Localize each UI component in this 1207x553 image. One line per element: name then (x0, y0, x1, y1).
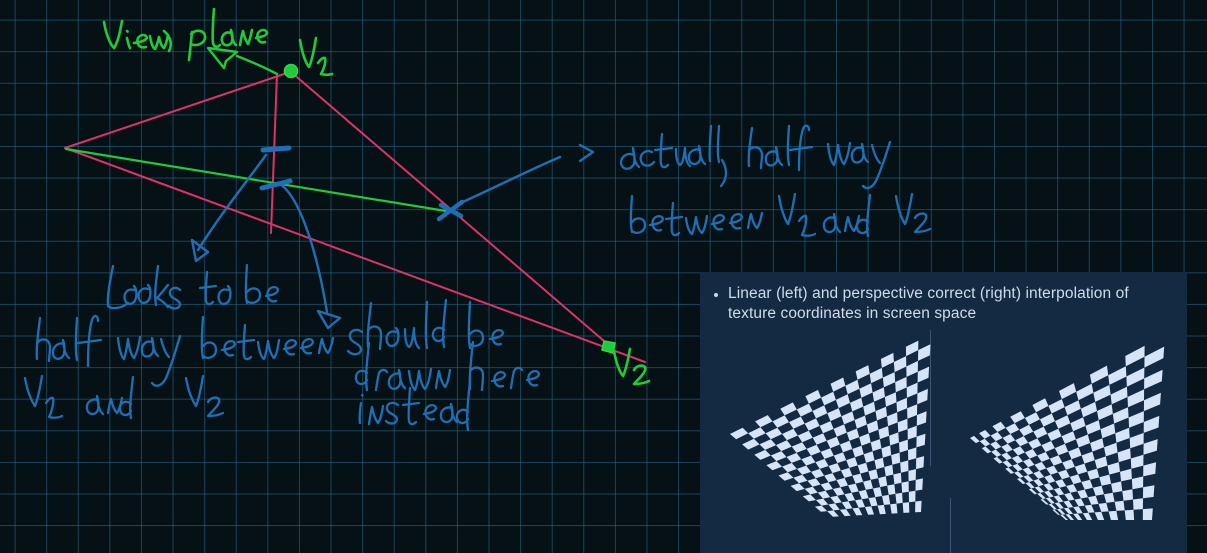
should-note-arrowhead (318, 311, 340, 328)
note-looks-line1 (108, 265, 278, 308)
looks-note-arrowhead (192, 240, 208, 261)
note-actually-line1 (621, 126, 890, 188)
ray-eye-to-midpoint (66, 149, 452, 212)
note-looks-line3 (25, 376, 223, 418)
pink-frustum-lines (65, 72, 645, 362)
note-should-line2 (356, 342, 539, 390)
view-plane-handwriting (104, 9, 267, 60)
ray-eye-to-v1 (65, 72, 290, 148)
tick-mark-upper (263, 148, 289, 150)
view-plane-segment (271, 74, 277, 233)
vertex-1-label (300, 38, 332, 75)
note-actually-line2 (631, 194, 930, 236)
note-should-line1 (348, 300, 503, 354)
leader-line-to-actually-note (456, 157, 560, 205)
vertex-1-marker (285, 65, 298, 78)
view-plane-arrow (208, 48, 277, 74)
note-looks-line2 (37, 316, 333, 386)
vertex-2-label (614, 349, 649, 384)
annotated-slide-canvas: Linear (left) and perspective correct (r… (0, 0, 1207, 553)
leader-line-to-should-note (280, 184, 327, 312)
blue-annotations (25, 126, 930, 430)
actually-note-arrowhead (580, 145, 593, 161)
handwriting-ink-layer (0, 0, 1207, 553)
leader-line-to-looks-note (198, 155, 266, 250)
